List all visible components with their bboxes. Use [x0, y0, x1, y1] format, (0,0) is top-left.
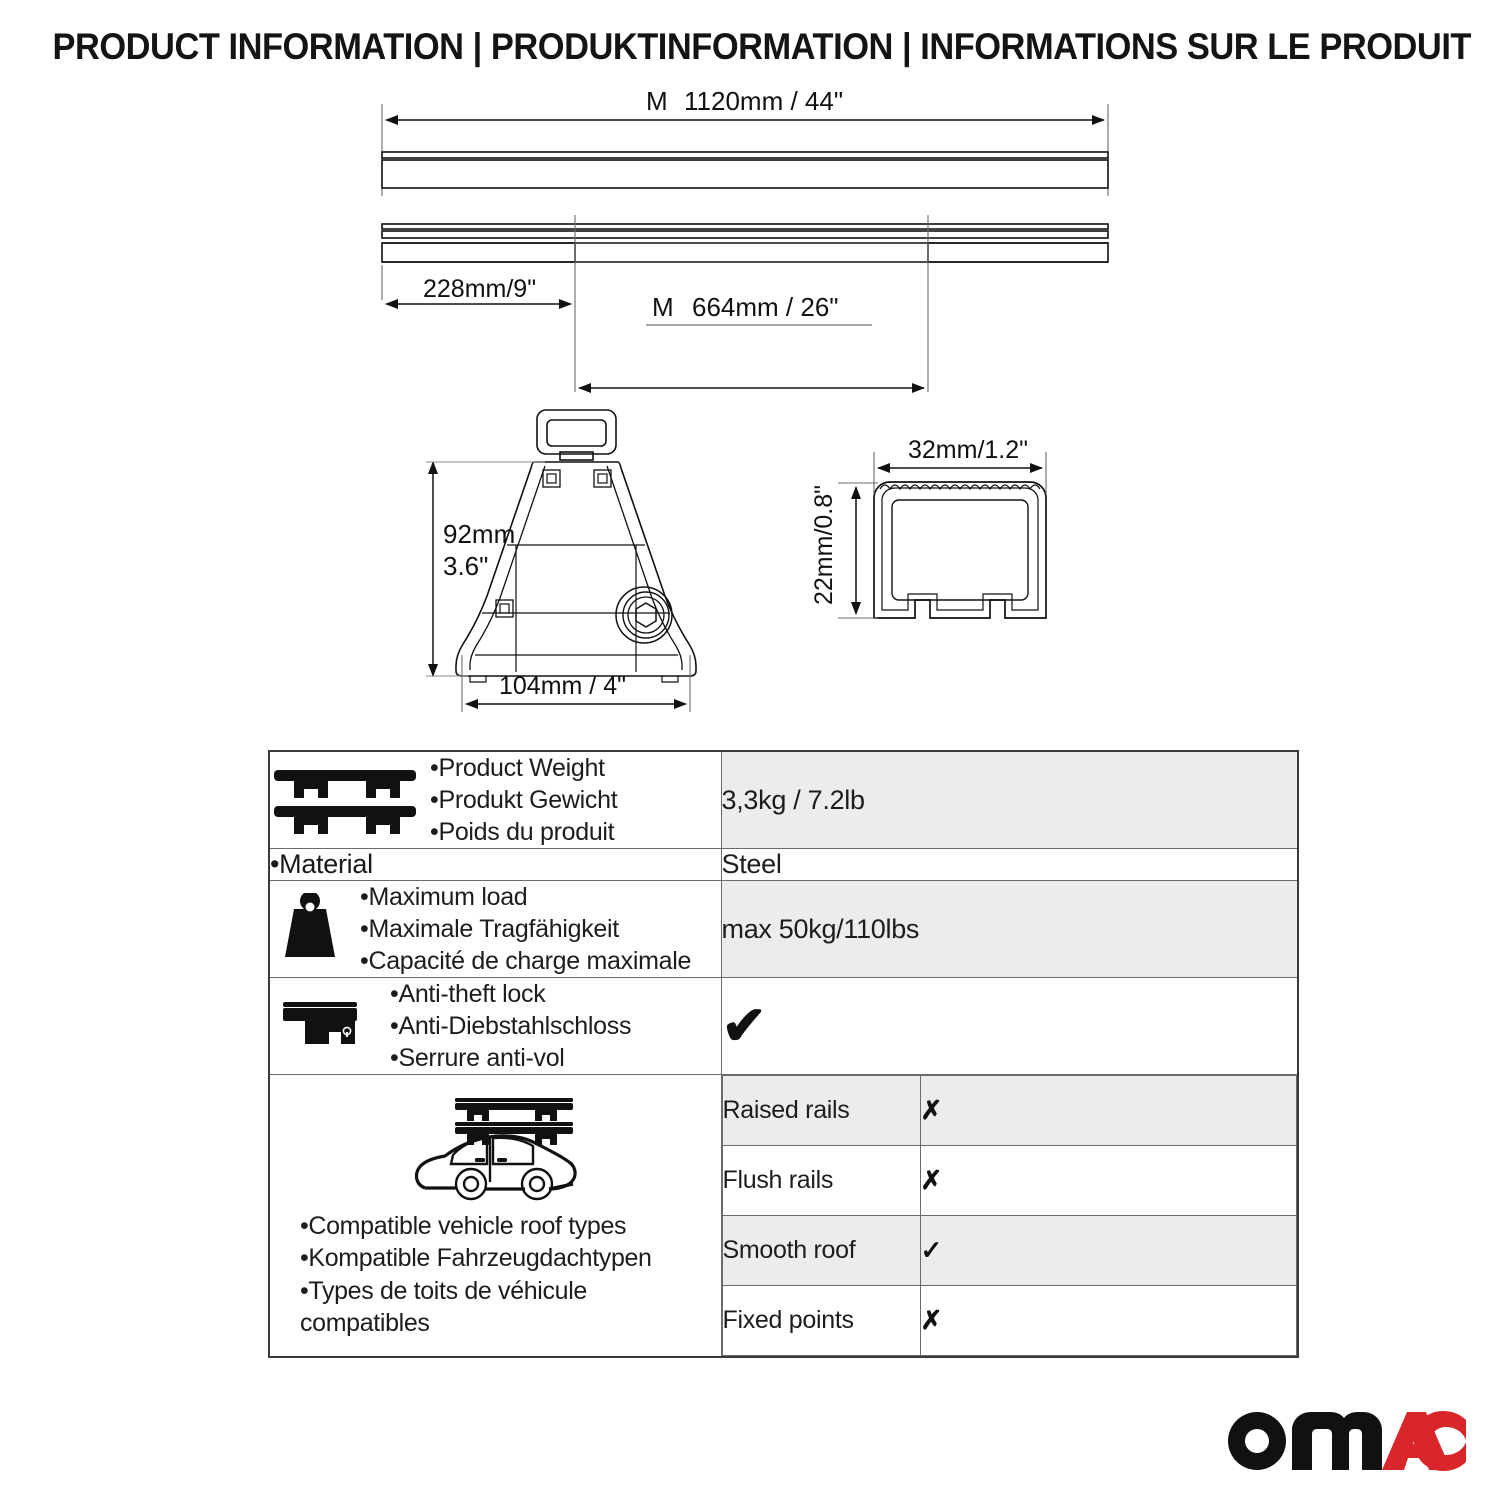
spec-label-material: •Material [269, 849, 721, 881]
spec-label-line: •Produkt Gewicht [430, 784, 617, 816]
spec-label-line: •Anti-Diebstahlschloss [390, 1010, 631, 1042]
spec-value-anti-theft-lock: ✔ [721, 978, 1298, 1075]
weight-icon [270, 893, 350, 965]
specification-table: •Product Weight •Produkt Gewicht •Poids … [268, 750, 1299, 1358]
spec-label-texts: •Maximum load •Maximale Tragfähigkeit •C… [360, 881, 691, 977]
roof-type-label: Flush rails [722, 1146, 920, 1216]
dimension-664mm-label: 664mm / 26" [692, 292, 839, 322]
dimension-32mm-label: 32mm/1.2" [908, 436, 1028, 464]
car-with-roof-rack-icon [270, 1092, 721, 1204]
spec-label-line: compatibles [300, 1307, 721, 1340]
crossbar-top-view [382, 104, 1108, 196]
spec-value-material: Steel [721, 849, 1298, 881]
spec-label-maximum-load: •Maximum load •Maximale Tragfähigkeit •C… [269, 881, 721, 978]
dimension-664mm [579, 325, 924, 388]
spec-label-product-weight: •Product Weight •Produkt Gewicht •Poids … [269, 751, 721, 849]
dimension-22mm-label: 22mm/0.8" [810, 485, 838, 605]
spec-label-line: •Compatible vehicle roof types [300, 1210, 721, 1243]
spec-label-line: •Serrure anti-vol [390, 1042, 631, 1074]
spec-label-texts: •Product Weight •Produkt Gewicht •Poids … [430, 752, 617, 848]
roof-type-mark-icon: ✗ [920, 1286, 1297, 1356]
spec-label-line: •Product Weight [430, 752, 617, 784]
spec-label-compatible-roof-types: •Compatible vehicle roof types •Kompatib… [269, 1075, 721, 1358]
lock-rail-icon [270, 998, 380, 1054]
spec-label-line: •Anti-theft lock [390, 978, 631, 1010]
roof-type-label: Fixed points [722, 1286, 920, 1356]
spec-label-line: •Kompatible Fahrzeugdachtypen [300, 1242, 721, 1275]
table-row: •Maximum load •Maximale Tragfähigkeit •C… [269, 881, 1298, 978]
table-row: •Material Steel [269, 849, 1298, 881]
spec-value-product-weight: 3,3kg / 7.2lb [721, 751, 1298, 849]
roof-type-row-smooth-roof: Smooth roof ✓ [722, 1216, 1297, 1286]
two-crossbars-icon [270, 764, 420, 836]
spec-label-line: •Maximale Tragfähigkeit [360, 913, 691, 945]
roof-type-label: Raised rails [722, 1076, 920, 1146]
omac-logo-mark [1226, 1408, 1466, 1474]
technical-drawing: M 1120mm / 44" 228mm/9" M 664mm / 26" 92… [0, 0, 1500, 760]
roof-type-mark-icon: ✗ [920, 1146, 1297, 1216]
roof-type-row-raised-rails: Raised rails ✗ [722, 1076, 1297, 1146]
roof-type-mark-icon: ✗ [920, 1076, 1297, 1146]
spec-label-line: •Poids du produit [430, 816, 617, 848]
roof-type-mark-icon: ✓ [920, 1216, 1297, 1286]
roof-types-cell: Raised rails ✗ Flush rails ✗ Smooth roof… [721, 1075, 1298, 1358]
roof-type-row-flush-rails: Flush rails ✗ [722, 1146, 1297, 1216]
spec-label-line: •Maximum load [360, 881, 691, 913]
table-row: •Compatible vehicle roof types •Kompatib… [269, 1075, 1298, 1358]
spec-label-line: •Types de toits de véhicule [300, 1275, 721, 1308]
roof-type-row-fixed-points: Fixed points ✗ [722, 1286, 1297, 1356]
dimension-1120mm-prefix: M [646, 86, 668, 116]
omac-logo [1226, 1408, 1466, 1474]
table-row: •Anti-theft lock •Anti-Diebstahlschloss … [269, 978, 1298, 1075]
rail-cross-section-view [838, 452, 1046, 618]
spec-label-anti-theft-lock: •Anti-theft lock •Anti-Diebstahlschloss … [269, 978, 721, 1075]
check-icon: ✔ [722, 996, 767, 1056]
spec-label-line: •Capacité de charge maximale [360, 945, 691, 977]
roof-types-table: Raised rails ✗ Flush rails ✗ Smooth roof… [722, 1075, 1298, 1356]
spec-label-texts: •Anti-theft lock •Anti-Diebstahlschloss … [390, 978, 631, 1074]
table-row: •Product Weight •Produkt Gewicht •Poids … [269, 751, 1298, 849]
dimension-664mm-prefix: M [652, 292, 674, 322]
dimension-92mm-label: 92mm [443, 519, 515, 549]
spec-value-maximum-load: max 50kg/110lbs [721, 881, 1298, 978]
dimension-3-6in-label: 3.6" [443, 551, 488, 581]
roof-type-label: Smooth roof [722, 1216, 920, 1286]
dimension-1120mm-label: 1120mm / 44" [684, 86, 843, 116]
dimension-104mm-label: 104mm / 4" [499, 672, 626, 700]
compat-label-texts: •Compatible vehicle roof types •Kompatib… [270, 1210, 721, 1340]
dimension-228mm-label: 228mm/9" [423, 275, 536, 303]
